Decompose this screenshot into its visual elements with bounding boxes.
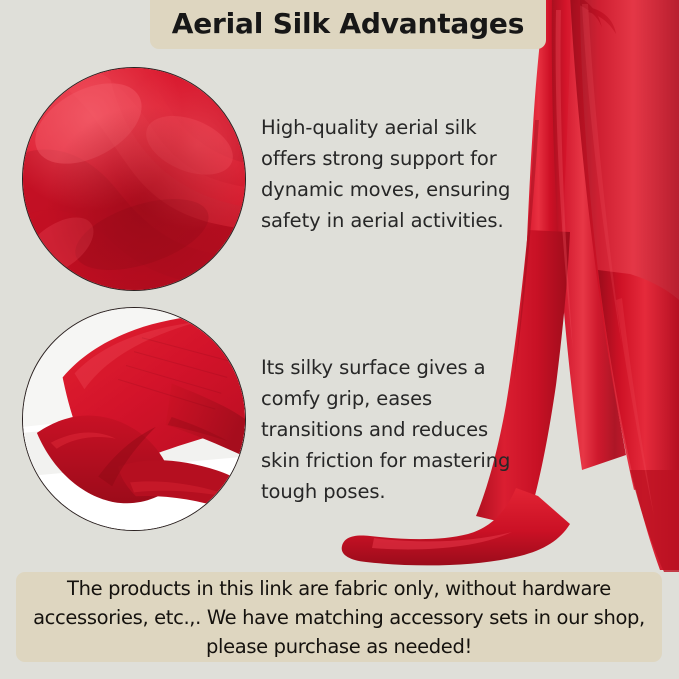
title-banner: Aerial Silk Advantages — [150, 0, 546, 49]
feature-image-folded-fabric — [22, 307, 246, 531]
feature-text-comfort: Its silky surface gives a comfy grip, ea… — [261, 352, 513, 507]
footer-notice-banner: The products in this link are fabric onl… — [16, 572, 662, 662]
feature-image-satin-silk — [22, 67, 246, 291]
page-title: Aerial Silk Advantages — [172, 10, 524, 40]
feature-text-strength: High-quality aerial silk offers strong s… — [261, 112, 513, 236]
footer-notice-text: The products in this link are fabric onl… — [16, 574, 662, 661]
aerial-silk-advantages-infographic: Aerial Silk Advantages — [0, 0, 679, 679]
